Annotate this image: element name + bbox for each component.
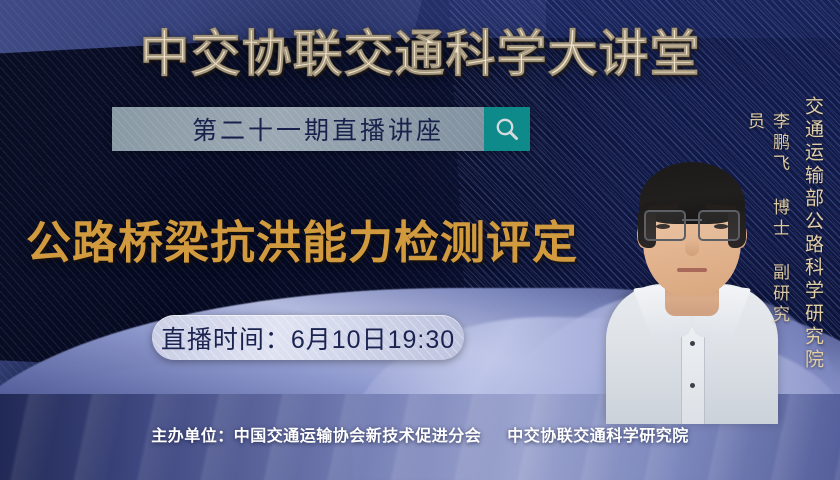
broadcast-time-text: 直播时间：6月10日19:30 <box>161 320 455 356</box>
footer-prefix: 主办单位： <box>151 428 234 445</box>
lecture-topic-headline: 公路桥梁抗洪能力检测评定 <box>26 206 578 271</box>
glasses-lens-right <box>698 210 740 241</box>
footer-org-2: 中交协联交通科学研究院 <box>507 428 689 445</box>
footer-org-1: 中国交通运输协会新技术促进分会 <box>234 428 482 445</box>
speaker-organization: 交通运输部公路科学研究院 <box>799 96 826 396</box>
glasses-icon <box>644 210 740 238</box>
live-lecture-poster: 中交协联交通科学大讲堂 第二十一期直播讲座 公路桥梁抗洪能力检测评定 直播时间：… <box>0 0 840 480</box>
portrait-mouth <box>677 268 707 272</box>
glasses-lens-left <box>644 210 686 241</box>
speaker-name-title: 李鹏飞 博士 副研究员 <box>742 112 792 340</box>
episode-banner-fill: 第二十一期直播讲座 <box>112 107 484 151</box>
portrait-shirt-button <box>690 341 695 346</box>
search-icon <box>494 116 520 142</box>
episode-banner: 第二十一期直播讲座 <box>112 107 530 151</box>
episode-label: 第二十一期直播讲座 <box>152 111 444 147</box>
portrait-nose <box>685 238 699 256</box>
portrait-shirt-button <box>690 383 695 388</box>
search-icon-box <box>484 107 530 151</box>
page-title: 中交协联交通科学大讲堂 <box>0 14 840 86</box>
footer: 主办单位：中国交通运输协会新技术促进分会中交协联交通科学研究院 <box>0 422 840 446</box>
broadcast-time-pill: 直播时间：6月10日19:30 <box>152 315 464 360</box>
